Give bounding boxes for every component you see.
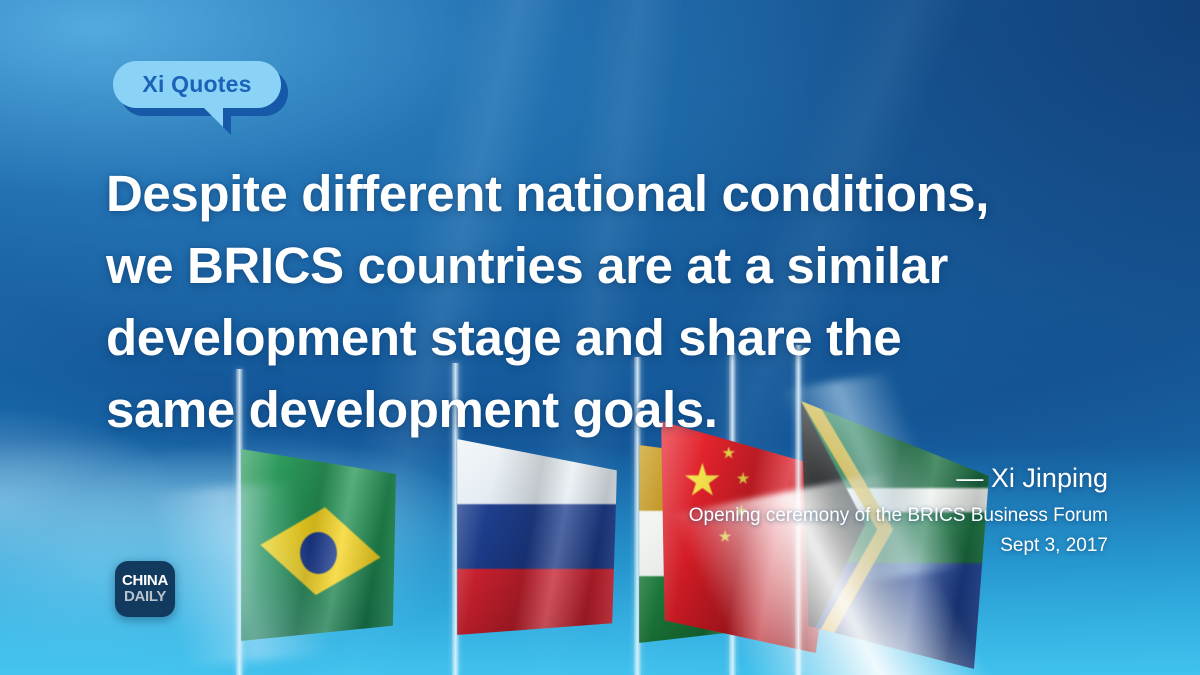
quote-line-3: development stage and share the [106,302,1116,374]
quote-card: Xi Quotes Despite different national con… [0,0,1200,675]
quote-line-2: we BRICS countries are at a similar [106,230,1116,302]
attribution-event: Opening ceremony of the BRICS Business F… [689,501,1108,531]
attribution-date: Sept 3, 2017 [689,531,1108,561]
attribution-block: — Xi Jinping Opening ceremony of the BRI… [689,461,1108,561]
badge-body: Xi Quotes [113,61,281,108]
logo-line-daily: DAILY [124,589,166,605]
badge-label: Xi Quotes [142,71,251,98]
logo-line-china: CHINA [122,573,168,589]
quote-block: Despite different national conditions, w… [106,158,1116,446]
quote-line-4: same development goals. [106,374,1116,446]
attribution-author: — Xi Jinping [689,461,1108,495]
china-daily-logo[interactable]: CHINA DAILY [115,561,175,617]
quote-line-1: Despite different national conditions, [106,158,1116,230]
